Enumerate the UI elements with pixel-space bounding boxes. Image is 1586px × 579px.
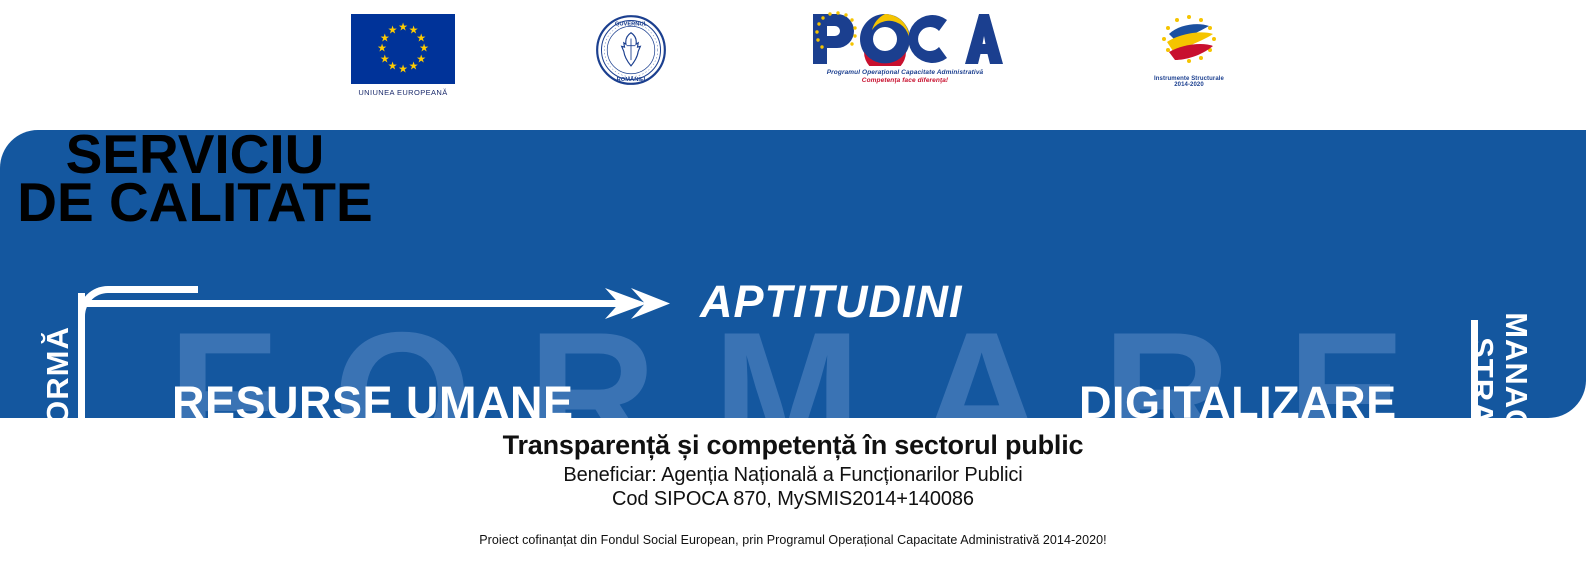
management-line-1: MANAGEMENT xyxy=(1499,310,1533,418)
reforma-label: REFORMĂ xyxy=(40,308,76,418)
eu-logo-block: ★★★★★★★★★★★★ UNIUNEA EUROPEANĂ xyxy=(351,0,455,97)
eu-star-icon: ★ xyxy=(377,44,387,55)
eu-star-icon: ★ xyxy=(398,23,408,34)
eu-flag-icon: ★★★★★★★★★★★★ xyxy=(351,14,455,84)
resurse-umane-label: RESURSE UMANE xyxy=(172,377,574,418)
structural-subtitle-2: 2014-2020 xyxy=(1174,82,1204,88)
beneficiary-line: Beneficiar: Agenția Națională a Funcțion… xyxy=(0,464,1586,487)
instrumente-structurale-icon xyxy=(1143,12,1235,74)
seal-text-bottom: ROMÂNIEI xyxy=(617,76,646,83)
project-codes: Cod SIPOCA 870, MySMIS2014+140086 xyxy=(0,488,1586,511)
eu-star-icon: ★ xyxy=(388,25,398,36)
management-strategic-label: MANAGEMENT STRATEGIC xyxy=(1465,310,1533,418)
project-title: Transparență și competență în sectorul p… xyxy=(0,430,1586,461)
main-banner: FORMARE APTITUDINI PERFORMANȚĂ RESURSE U… xyxy=(0,130,1586,418)
guvernul-romaniei-seal-icon: GUVERNUL ROMÂNIEI xyxy=(595,14,667,86)
eu-star-icon: ★ xyxy=(380,54,390,65)
eu-flag-caption: UNIUNEA EUROPEANĂ xyxy=(358,88,447,97)
serviciu-de-calitate-label: SERVICIU DE CALITATE xyxy=(0,130,390,226)
seal-text-top: GUVERNUL xyxy=(615,22,648,28)
footer: Transparență și competență în sectorul p… xyxy=(0,430,1586,547)
serviciu-line-2: DE CALITATE xyxy=(0,178,390,226)
right-arrow-icon xyxy=(85,286,670,322)
poca-logo-block: Programul Operaţional Capacitate Adminis… xyxy=(807,10,1003,84)
eu-star-icon: ★ xyxy=(409,62,419,73)
poca-wordmark-icon xyxy=(807,10,1003,66)
structural-logo-block: Instrumente Structurale 2014-2020 xyxy=(1143,12,1235,88)
aptitudini-label: APTITUDINI xyxy=(700,276,963,328)
digitalizare-label: DIGITALIZARE xyxy=(1079,377,1397,418)
logo-strip: ★★★★★★★★★★★★ UNIUNEA EUROPEANĂ GUVERNUL … xyxy=(0,0,1586,118)
poca-subtitle-1: Programul Operaţional Capacitate Adminis… xyxy=(827,69,984,76)
poca-subtitle-2: Competenţa face diferenţa! xyxy=(862,77,948,84)
management-line-2: STRATEGIC xyxy=(1465,310,1499,418)
cofinancing-note: Proiect cofinanțat din Fondul Social Eur… xyxy=(0,533,1586,547)
government-logo-block: GUVERNUL ROMÂNIEI xyxy=(595,14,667,86)
eu-star-icon: ★ xyxy=(398,65,408,76)
